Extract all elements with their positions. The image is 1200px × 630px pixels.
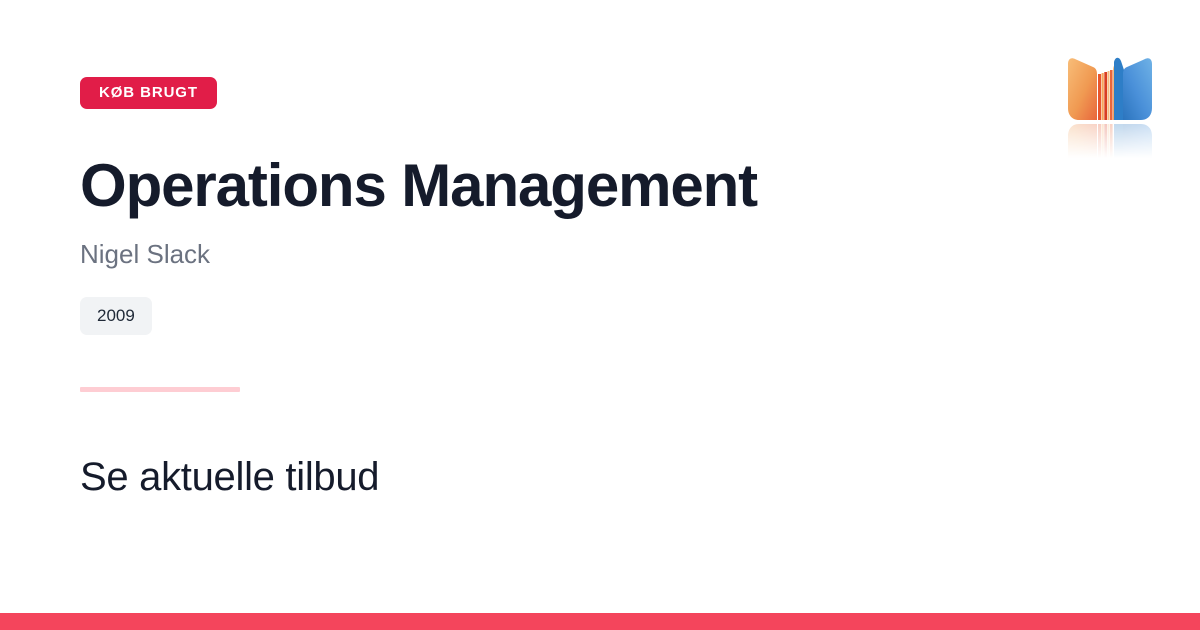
book-promo-card: KØB BRUGT Operations Management Nigel Sl…	[0, 0, 1200, 630]
publication-year-chip: 2009	[80, 297, 152, 335]
status-badge: KØB BRUGT	[80, 77, 217, 109]
bottom-accent-bar	[0, 613, 1200, 630]
book-author: Nigel Slack	[80, 239, 1020, 270]
book-butterfly-icon	[1062, 48, 1158, 158]
site-logo[interactable]	[1062, 48, 1158, 158]
cta-link[interactable]: Se aktuelle tilbud	[80, 454, 1020, 500]
badge-row: KØB BRUGT	[80, 0, 1020, 109]
page-title: Operations Management	[80, 154, 1020, 217]
year-row: 2009	[80, 297, 1020, 335]
content-column: KØB BRUGT Operations Management Nigel Sl…	[80, 0, 1020, 500]
section-divider	[80, 387, 240, 392]
